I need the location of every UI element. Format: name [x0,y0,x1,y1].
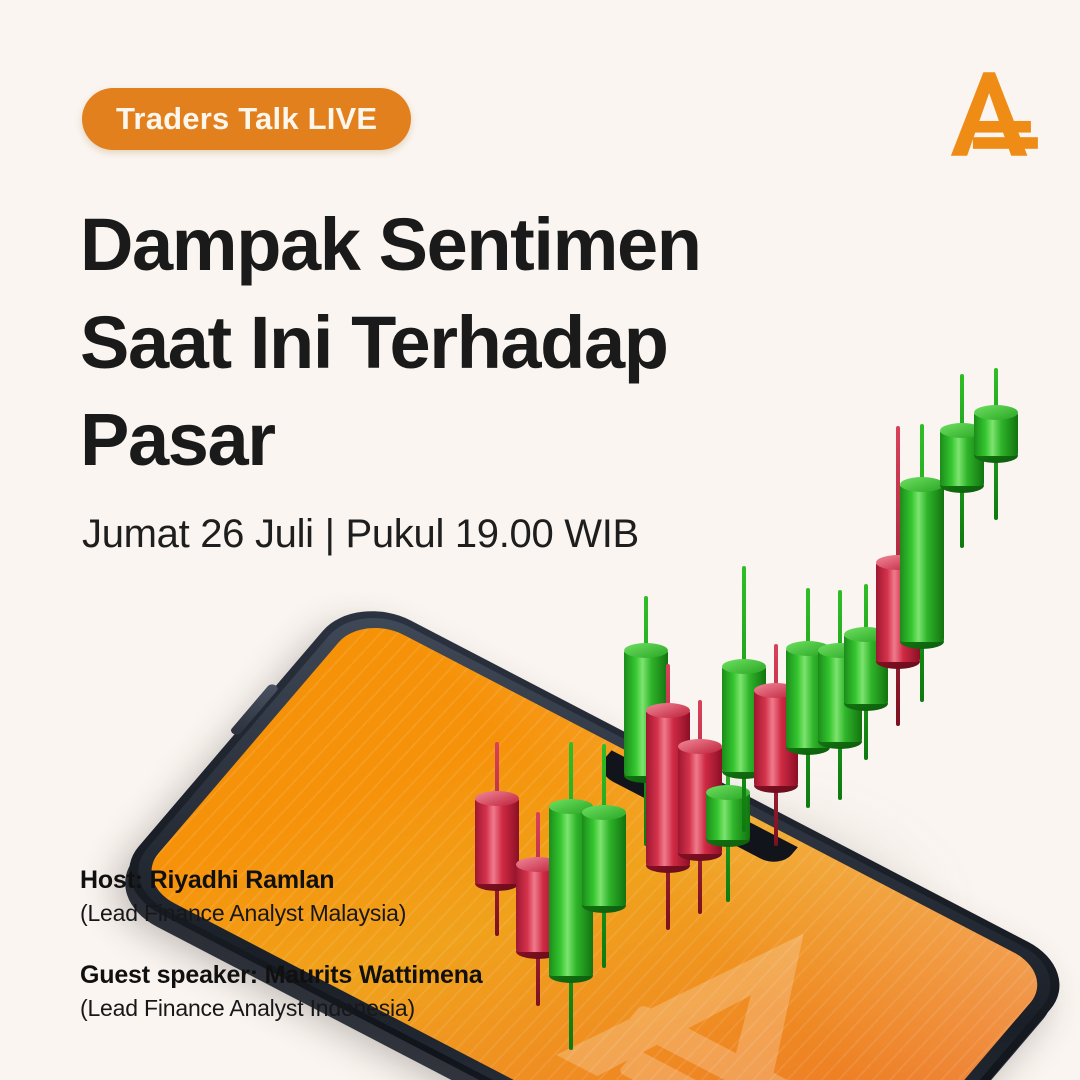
candle-body [974,412,1018,456]
candle-body-top [974,405,1018,420]
guest-name: Guest speaker: Maurits Wattimena [80,961,483,990]
speaker-credits: Host: Riyadhi Ramlan (Lead Finance Analy… [80,866,483,1022]
live-badge-label: Traders Talk LIVE [116,101,377,137]
host-name: Host: Riyadhi Ramlan [80,866,483,895]
host-role: (Lead Finance Analyst Malaysia) [80,900,483,927]
candle-body [900,484,944,642]
live-badge[interactable]: Traders Talk LIVE [82,88,411,150]
schedule-text: Jumat 26 Juli | Pukul 19.00 WIB [82,512,639,557]
headline-line-2: Saat Ini Terhadap [80,294,840,392]
candlestick-17 [974,368,1018,520]
page-title: Dampak Sentimen Saat Ini Terhadap Pasar [80,196,840,489]
candle-body-top [582,805,626,820]
candle-body-side [582,812,626,906]
candle-body-top [475,791,519,806]
candlestick-4 [582,744,626,968]
candlestick-15 [900,424,944,702]
poster-canvas: Traders Talk LIVE Dampak Sentimen Saat I… [0,0,1080,1080]
candle-body-top [900,477,944,492]
headline-line-1: Dampak Sentimen [80,196,840,294]
guest-role: (Lead Finance Analyst Indonesia) [80,995,483,1022]
candle-body [582,812,626,906]
letter-a-logo-icon [930,56,1046,172]
candle-body-top [624,643,668,658]
headline-line-3: Pasar [80,391,840,489]
candle-body-side [900,484,944,642]
